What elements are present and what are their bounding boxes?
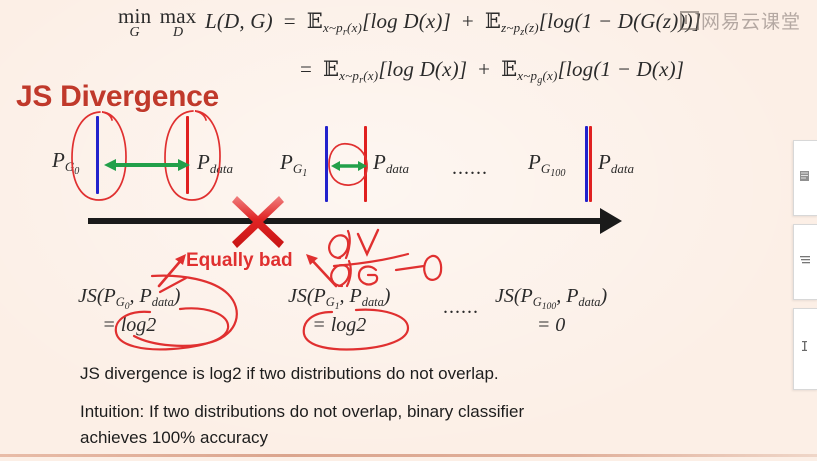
js-formula-g0: JS(PG0, Pdata) = log2 [78,285,180,337]
js-formula-g100-line1: JS(PG100, Pdata) [495,285,607,312]
progress-axis-arrowhead [600,208,622,234]
watermark-overlay: 网易云课堂 [680,7,801,34]
page-title: JS Divergence [16,80,219,114]
watermark-text: 网易云课堂 [701,11,801,33]
expectation-symbol-3: 𝔼 [323,57,339,81]
slide-canvas: min G max D L(D, G) = 𝔼x~pr(x)[log D(x)]… [0,0,817,461]
equals-sign-1: = [278,9,301,33]
label-p-data-100: Pdata [598,150,634,177]
label-p-data-1: Pdata [373,150,409,177]
js-formula-g1-line2: = log2 [288,314,390,337]
bottom-divider [0,454,817,457]
side-panel-top[interactable] [793,140,817,216]
handwritten-derivative-annotation [320,228,480,290]
expectation-symbol-4: 𝔼 [501,57,517,81]
min-operator: min G [118,6,151,40]
equals-sign-2: = [300,57,318,81]
log-1-minus-dx: [log(1 − D(x)] [558,57,685,81]
pair-0-data-line [186,116,189,194]
label-p-data-1-sub: data [386,161,409,176]
document-icon [800,171,812,181]
plus-sign-1: + [456,9,479,33]
label-p-data-100-sub: data [611,161,634,176]
plus-sign-2: + [473,57,496,81]
side-panel-middle[interactable] [793,224,817,300]
pair-1-data-line [364,126,367,202]
log-d-x-1: [log D(x)] [362,9,451,33]
js-formula-g1: JS(PG1, Pdata) = log2 [288,285,390,337]
log-1-minus-dgz: [log(1 − D(G(z)))] [539,9,701,33]
expectation-subscript-3: x~pr(x) [339,68,378,83]
pair-0-generator-line [96,116,99,194]
body-line-1: JS divergence is log2 if two distributio… [80,364,499,384]
max-operator: max D [160,6,197,40]
watermark-box-icon [680,11,699,30]
js-formula-g100-line2: = 0 [495,314,607,337]
equation-line-1-body: L(D, G) [205,9,273,33]
expectation-subscript-2: z~pz(z) [501,20,539,35]
progress-axis-line [88,218,608,224]
label-p-g0-sub: G0 [65,159,79,174]
label-p-g1-sub: G1 [293,161,307,176]
label-p-g100-sub: G100 [541,161,566,176]
body-line-2: Intuition: If two distributions do not o… [80,402,524,422]
js-formula-g1-line1: JS(PG1, Pdata) [288,285,390,312]
label-p-g100: PG100 [528,150,565,179]
equally-bad-annotation: Equally bad [186,250,293,272]
list-icon [800,255,812,265]
label-p-g1: PG1 [280,150,307,179]
pair-1-distance-arrow [331,159,367,173]
ellipsis-js-formulas: ...... [443,296,479,319]
js-formula-g0-line2: = log2 [78,314,180,337]
pair-100-generator-line [585,126,588,202]
pair-100-data-line [589,126,592,202]
expectation-subscript-4: x~pg(x) [517,68,557,83]
label-p-data-0: Pdata [197,150,233,177]
label-p-g0: PG0 [52,148,79,177]
label-p-data-0-sub: data [210,161,233,176]
text-cursor-icon [800,341,812,351]
pair-0-distance-arrow [104,156,190,174]
pair-1-generator-line [325,126,328,202]
js-formula-g0-line1: JS(PG0, Pdata) [78,285,180,312]
js-formula-g100: JS(PG100, Pdata) = 0 [495,285,607,337]
equation-line-2: = 𝔼x~pr(x)[log D(x)] + 𝔼x~pg(x)[log(1 − … [300,57,684,86]
expectation-subscript-1: x~pr(x) [323,20,362,35]
side-panel-bottom[interactable] [793,308,817,390]
red-x-mark-icon [228,192,288,252]
expectation-symbol-1: 𝔼 [307,9,323,33]
equation-line-1: min G max D L(D, G) = 𝔼x~pr(x)[log D(x)]… [118,6,701,40]
ellipsis-distributions: ...... [452,157,488,180]
expectation-symbol-2: 𝔼 [485,9,501,33]
body-line-3: achieves 100% accuracy [80,428,268,448]
log-d-x-2: [log D(x)] [378,57,467,81]
